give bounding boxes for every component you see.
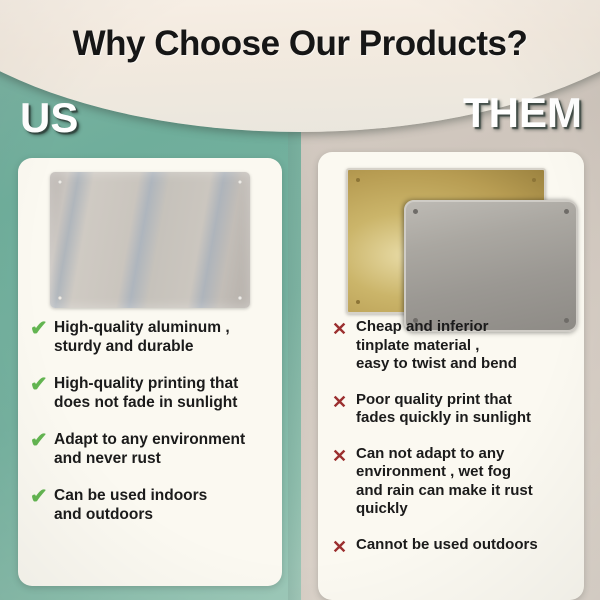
list-item: ✕ Cheap and inferior tinplate material ,… [332,318,578,374]
grey-tinplate-sign-image [404,200,578,332]
screw-hole-icon [356,178,360,182]
us-card: ✔ High-quality aluminum , sturdy and dur… [18,158,282,586]
right-column-heading: THEM [463,92,582,134]
list-item: ✔ Can be used indoors and outdoors [30,486,272,524]
list-item: ✔ High-quality printing that does not fa… [30,374,272,412]
them-feature-list: ✕ Cheap and inferior tinplate material ,… [318,318,584,574]
list-item: ✔ Adapt to any environment and never rus… [30,430,272,468]
check-icon: ✔ [30,431,54,451]
list-item: ✔ High-quality aluminum , sturdy and dur… [30,318,272,356]
page-title: Why Choose Our Products? [0,24,600,64]
list-item-label: High-quality printing that does not fade… [54,374,272,412]
left-column-heading: US [20,97,78,139]
cross-icon: ✕ [332,319,356,339]
check-icon: ✔ [30,319,54,339]
comparison-infographic: Why Choose Our Products? US THEM ✔ High-… [0,0,600,600]
list-item: ✕ Can not adapt to any environment , wet… [332,445,578,519]
list-item: ✕ Cannot be used outdoors [332,536,578,557]
cross-icon: ✕ [332,537,356,557]
screw-hole-icon [356,300,360,304]
cross-icon: ✕ [332,446,356,466]
list-item-label: Poor quality print that fades quickly in… [356,391,578,428]
list-item-label: High-quality aluminum , sturdy and durab… [54,318,272,356]
list-item: ✕ Poor quality print that fades quickly … [332,391,578,428]
check-icon: ✔ [30,487,54,507]
panel-divider [288,100,314,600]
screw-hole-icon [58,296,62,300]
screw-hole-icon [413,209,418,214]
list-item-label: Can be used indoors and outdoors [54,486,272,524]
screw-hole-icon [532,178,536,182]
them-card: ✕ Cheap and inferior tinplate material ,… [318,152,584,600]
screw-hole-icon [238,180,242,184]
list-item-label: Cannot be used outdoors [356,536,578,555]
screw-hole-icon [238,296,242,300]
us-feature-list: ✔ High-quality aluminum , sturdy and dur… [18,318,282,542]
cross-icon: ✕ [332,392,356,412]
list-item-label: Adapt to any environment and never rust [54,430,272,468]
screw-hole-icon [58,180,62,184]
screw-hole-icon [564,209,569,214]
check-icon: ✔ [30,375,54,395]
list-item-label: Can not adapt to any environment , wet f… [356,445,578,519]
list-item-label: Cheap and inferior tinplate material , e… [356,318,578,374]
aluminum-sign-image [50,172,250,308]
